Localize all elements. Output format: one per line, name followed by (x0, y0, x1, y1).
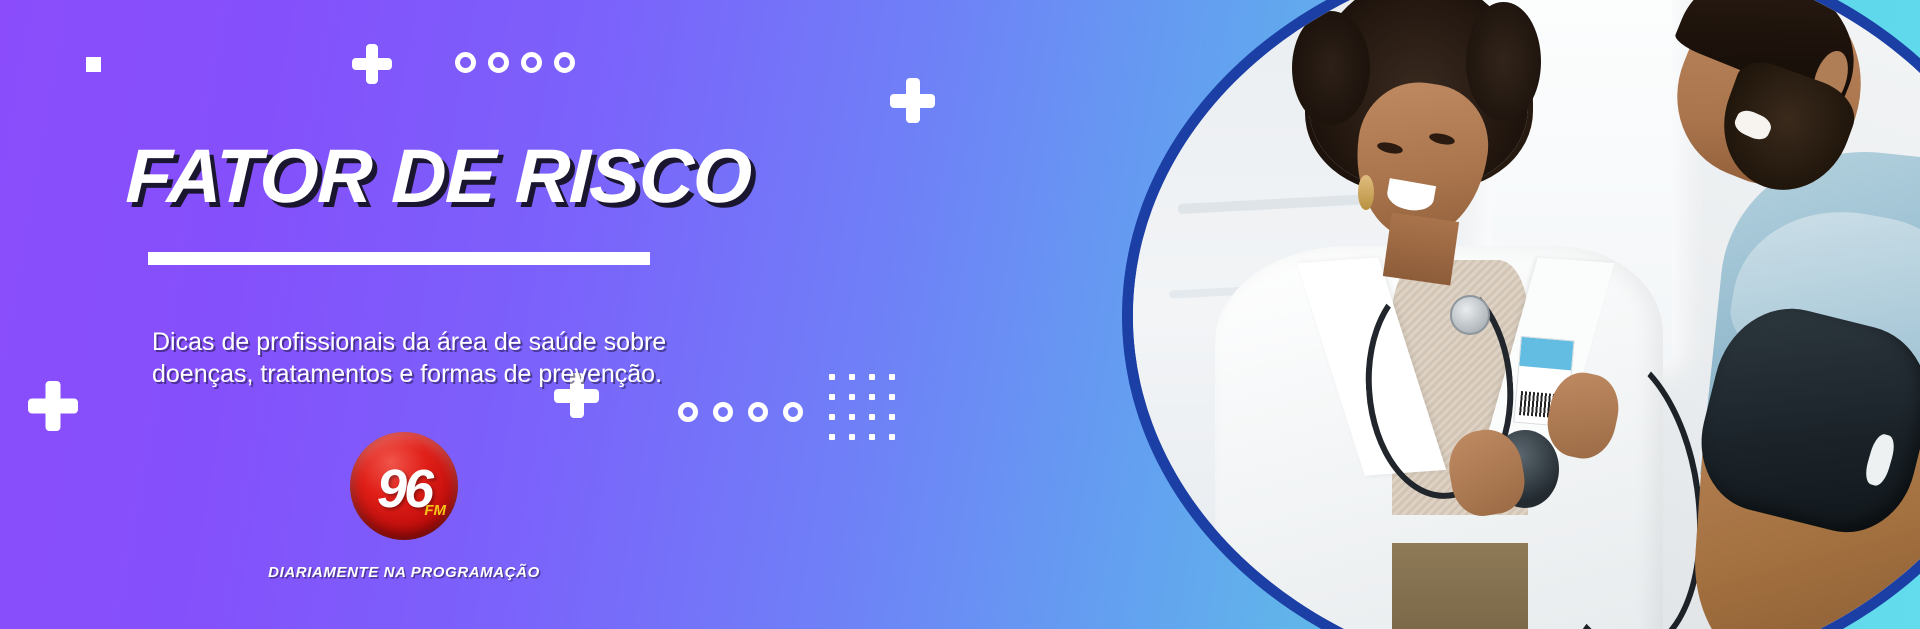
subtitle-line-1: Dicas de profissionais da área de saúde … (152, 326, 852, 358)
subtitle: Dicas de profissionais da área de saúde … (152, 326, 852, 390)
square-decoration-icon (86, 57, 101, 72)
ring-decoration-icon (678, 402, 698, 422)
subtitle-line-2: doenças, tratamentos e formas de prevenç… (152, 358, 852, 390)
doctor-trousers (1392, 543, 1527, 629)
ring-decoration-icon (713, 402, 733, 422)
photo-doctor-patient (1133, 0, 1920, 629)
plus-decoration-icon-top-left (352, 44, 392, 84)
page-title: FATOR DE RISCO (125, 139, 753, 215)
plus-decoration-icon-bottom-left (28, 381, 78, 431)
ring-decoration-icon (521, 52, 542, 73)
plus-decoration-icon-top-right (890, 78, 935, 123)
tagline: DIARIAMENTE NA PROGRAMAÇÃO (222, 564, 586, 582)
stethoscope-bell-icon (1450, 295, 1490, 334)
title-underline (148, 252, 650, 265)
ring-decoration-icon (488, 52, 509, 73)
ring-decoration-icon (748, 402, 768, 422)
ring-decoration-icon (554, 52, 575, 73)
radio-station-logo: 96 FM (350, 432, 458, 540)
ring-decoration-icon (783, 402, 803, 422)
patient-figure (1600, 0, 1920, 629)
clinic-scene (1133, 0, 1920, 629)
logo-fm-label: FM (424, 503, 446, 518)
ring-decoration-icon (455, 52, 476, 73)
doctor-neck (1383, 213, 1459, 286)
photo-medallion (1122, 0, 1920, 629)
promo-banner: FATOR DE RISCO Dicas de profissionais da… (0, 0, 1920, 629)
